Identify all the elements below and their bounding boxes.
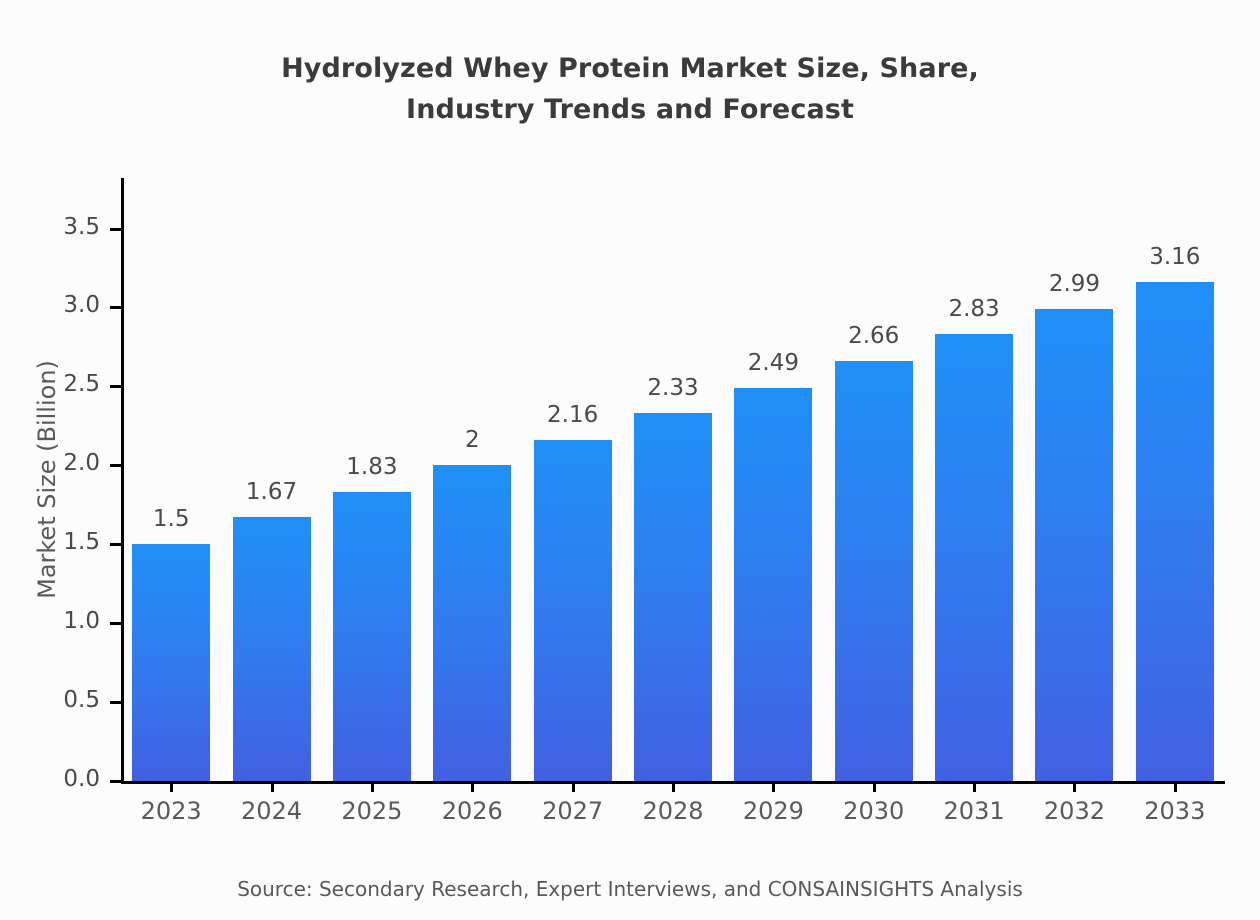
- plot-area: 0.00.51.01.52.02.53.03.5 202320242025202…: [121, 178, 1225, 781]
- bar-value-label-2023: 1.5: [111, 506, 231, 532]
- bar-2031[interactable]: [935, 334, 1013, 781]
- x-tick-mark: [1174, 781, 1177, 792]
- y-tick-mark: [110, 622, 121, 625]
- bar-value-label-2024: 1.67: [212, 479, 332, 505]
- x-tick-mark: [371, 781, 374, 792]
- x-tick-mark: [170, 781, 173, 792]
- y-tick-label: 3.0: [20, 292, 100, 318]
- y-tick-label: 0.0: [20, 766, 100, 792]
- y-tick-mark: [110, 543, 121, 546]
- bar-2033[interactable]: [1136, 282, 1214, 781]
- bar-2030[interactable]: [835, 361, 913, 781]
- x-tick-mark: [672, 781, 675, 792]
- bar-2028[interactable]: [634, 413, 712, 781]
- bar-2023[interactable]: [132, 544, 210, 781]
- y-tick-mark: [110, 385, 121, 388]
- x-tick-mark: [1073, 781, 1076, 792]
- bar-value-label-2032: 2.99: [1014, 271, 1134, 297]
- bar-value-label-2030: 2.66: [814, 323, 934, 349]
- bar-2024[interactable]: [233, 517, 311, 781]
- x-tick-mark: [471, 781, 474, 792]
- y-tick-label: 0.5: [20, 687, 100, 713]
- bar-2025[interactable]: [333, 492, 411, 781]
- x-tick-mark: [973, 781, 976, 792]
- chart-title-line-2: Industry Trends and Forecast: [0, 89, 1260, 130]
- y-tick-label: 1.0: [20, 608, 100, 634]
- bar-2027[interactable]: [534, 440, 612, 781]
- y-tick-mark: [110, 701, 121, 704]
- source-note: Source: Secondary Research, Expert Inter…: [0, 877, 1260, 901]
- chart-figure: Hydrolyzed Whey Protein Market Size, Sha…: [0, 0, 1260, 920]
- y-tick-mark: [110, 464, 121, 467]
- bar-value-label-2028: 2.33: [613, 375, 733, 401]
- x-tick-mark: [772, 781, 775, 792]
- x-tick-mark: [572, 781, 575, 792]
- x-tick-label: 2033: [1115, 797, 1235, 825]
- x-tick-mark: [271, 781, 274, 792]
- bar-value-label-2031: 2.83: [914, 296, 1034, 322]
- y-tick-label: 2.5: [20, 371, 100, 397]
- bar-2032[interactable]: [1035, 309, 1113, 781]
- y-tick-label: 1.5: [20, 529, 100, 555]
- bar-value-label-2027: 2.16: [513, 402, 633, 428]
- y-tick-mark: [110, 228, 121, 231]
- bar-value-label-2026: 2: [412, 427, 532, 453]
- chart-title-line-1: Hydrolyzed Whey Protein Market Size, Sha…: [0, 48, 1260, 89]
- x-tick-mark: [873, 781, 876, 792]
- bar-2026[interactable]: [433, 465, 511, 781]
- bar-value-label-2025: 1.83: [312, 454, 432, 480]
- bar-2029[interactable]: [734, 388, 812, 781]
- y-tick-mark: [110, 780, 121, 783]
- y-tick-mark: [110, 306, 121, 309]
- bar-value-label-2033: 3.16: [1115, 244, 1235, 270]
- bar-value-label-2029: 2.49: [713, 350, 833, 376]
- chart-title: Hydrolyzed Whey Protein Market Size, Sha…: [0, 48, 1260, 130]
- y-tick-label: 3.5: [20, 214, 100, 240]
- y-tick-label: 2.0: [20, 450, 100, 476]
